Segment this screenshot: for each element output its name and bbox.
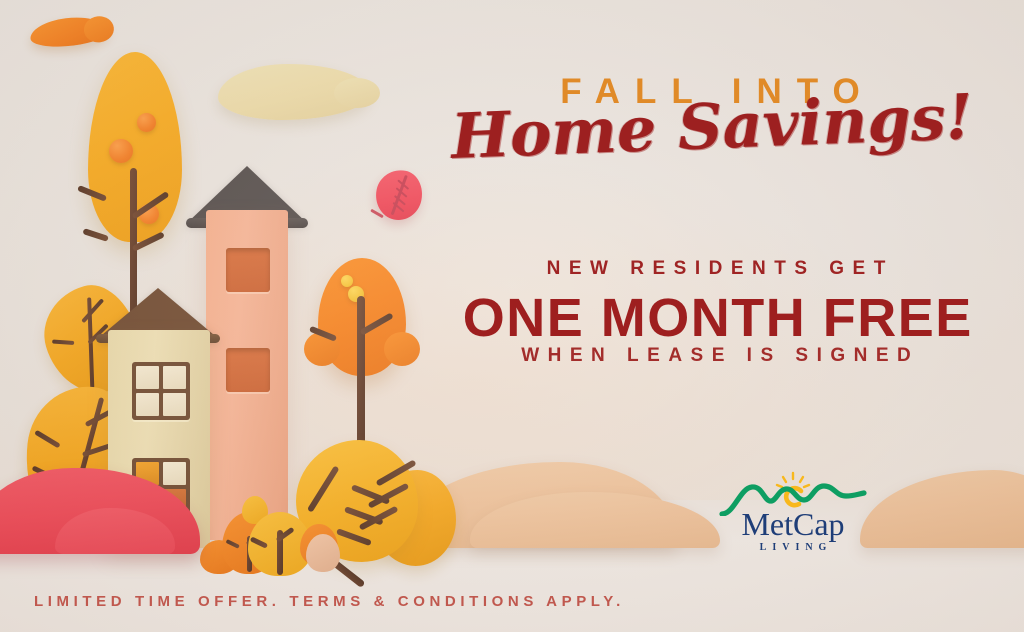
metcap-tagline: LIVING [718,542,868,553]
offer-headline: ONE MONTH FREE [430,290,1004,347]
headline-script: Home Savings! [429,85,995,169]
offer-eyebrow: NEW RESIDENTS GET [430,258,1002,280]
metcap-logo[interactable]: MetCap LIVING [718,470,868,566]
cream-house-window-upper [132,362,190,420]
tower-window-upper [226,248,270,292]
offer-subline: WHEN LEASE IS SIGNED [430,345,1002,367]
disclaimer-text: LIMITED TIME OFFER. TERMS & CONDITIONS A… [34,593,625,610]
metcap-wordmark: MetCap [718,508,868,540]
peach-tower-house [206,210,288,540]
bush-peach [306,534,340,572]
tower-window-lower [226,348,270,392]
promo-banner: FALL INTO Home Savings! NEW RESIDENTS GE… [0,0,1024,632]
